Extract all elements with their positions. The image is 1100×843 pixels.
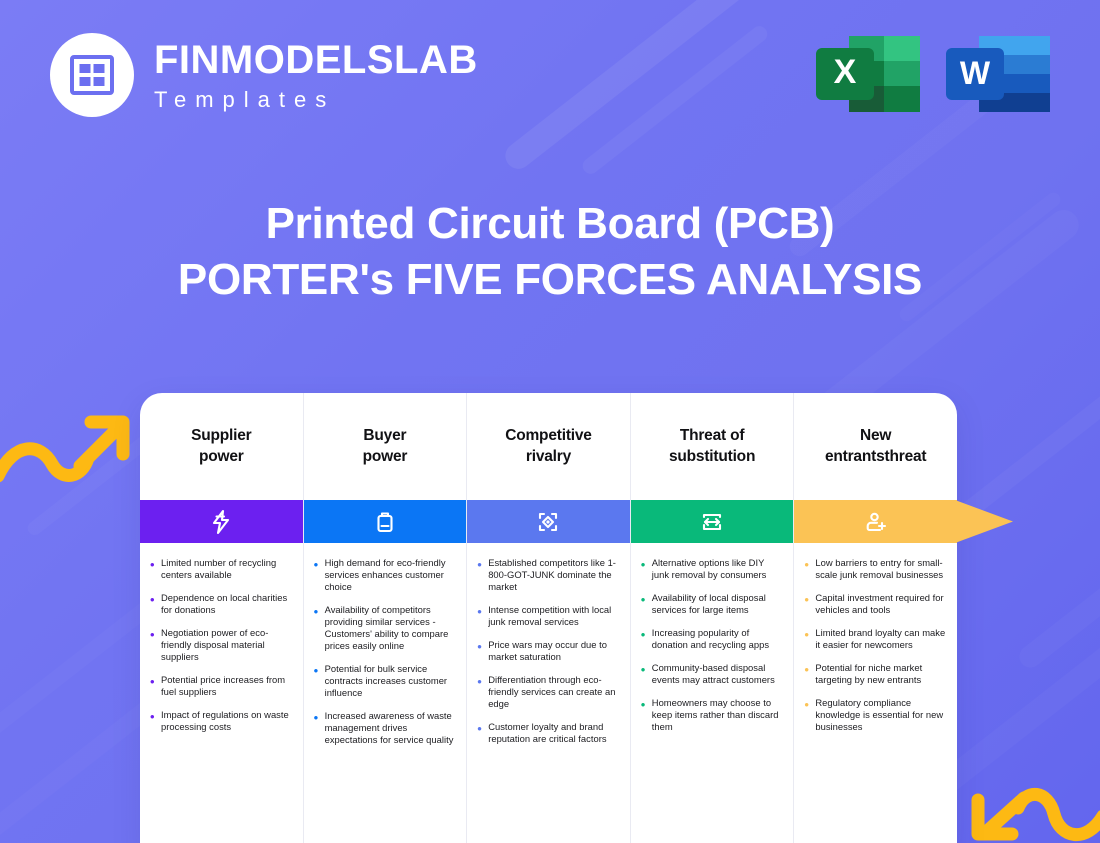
band-arrow-head-icon — [955, 500, 1015, 543]
user-plus-icon — [863, 509, 889, 535]
brand-subtitle: Templates — [154, 89, 478, 111]
bullet-item: •Homeowners may choose to keep items rat… — [641, 697, 783, 733]
column-header-label: New entrantsthreat — [825, 426, 926, 467]
column-band — [304, 500, 467, 543]
column-header-label: Threat of substitution — [669, 426, 755, 467]
force-column-buyer-power: Buyer power •High demand for eco-friendl… — [304, 393, 468, 843]
column-header: Buyer power — [304, 393, 467, 500]
bullet-item: •Potential for niche market targeting by… — [804, 662, 946, 686]
force-column-supplier-power: Supplier power •Limited number of recycl… — [140, 393, 304, 843]
bg-brush-stroke — [1015, 470, 1100, 672]
bullet-item: •Negotiation power of eco-friendly dispo… — [150, 627, 292, 663]
force-column-threat-of-substitution: Threat of substitution •Alternative opti… — [631, 393, 795, 843]
title-line-2: PORTER's FIVE FORCES ANALYSIS — [0, 252, 1100, 308]
svg-text:W: W — [960, 55, 991, 91]
target-focus-icon — [535, 509, 561, 535]
column-bullets: •Low barriers to entry for small-scale j… — [794, 543, 957, 843]
bullet-item: •Potential price increases from fuel sup… — [150, 674, 292, 698]
column-header: New entrantsthreat — [794, 393, 957, 500]
svg-text:X: X — [834, 53, 857, 91]
bullet-item: •Increased awareness of waste management… — [314, 710, 456, 746]
column-band — [631, 500, 794, 543]
squiggle-arrow-up-right-icon — [0, 408, 136, 488]
brand-logo[interactable]: FINMODELSLAB Templates — [50, 33, 478, 117]
column-header: Supplier power — [140, 393, 303, 500]
column-header-label: Supplier power — [191, 426, 251, 467]
bullet-item: •Potential for bulk service contracts in… — [314, 663, 456, 699]
bullet-item: •Limited brand loyalty can make it easie… — [804, 627, 946, 651]
bullet-item: •Customer loyalty and brand reputation a… — [477, 721, 619, 745]
exchange-arrows-icon — [699, 509, 725, 535]
bullet-item: •Dependence on local charities for donat… — [150, 592, 292, 616]
bg-brush-stroke — [579, 23, 770, 177]
bullet-item: •Capital investment required for vehicle… — [804, 592, 946, 616]
column-header: Threat of substitution — [631, 393, 794, 500]
grid-squares-icon — [70, 55, 114, 95]
excel-icon[interactable]: X — [816, 28, 920, 120]
bullet-item: •Impact of regulations on waste processi… — [150, 709, 292, 733]
column-band — [794, 500, 957, 543]
bullet-item: •Alternative options like DIY junk remov… — [641, 557, 783, 581]
bg-brush-stroke — [0, 594, 162, 742]
bullet-item: •Regulatory compliance knowledge is esse… — [804, 697, 946, 733]
column-bullets: •Alternative options like DIY junk remov… — [631, 543, 794, 843]
bullet-item: •Low barriers to entry for small-scale j… — [804, 557, 946, 581]
five-forces-table: Supplier power •Limited number of recycl… — [140, 393, 957, 843]
bullet-item: •Differentiation through eco-friendly se… — [477, 674, 619, 710]
lightning-bolt-icon — [208, 509, 234, 535]
squiggle-arrow-down-left-icon — [960, 752, 1100, 843]
bullet-item: •Intense competition with local junk rem… — [477, 604, 619, 628]
column-header-label: Buyer power — [363, 426, 408, 467]
column-bullets: •Established competitors like 1-800-GOT-… — [467, 543, 630, 843]
column-header-label: Competitive rivalry — [505, 426, 592, 467]
force-column-competitive-rivalry: Competitive rivalry •Established competi… — [467, 393, 631, 843]
brand-name: FINMODELSLAB — [154, 40, 478, 80]
logo-badge — [50, 33, 134, 117]
column-bullets: •Limited number of recycling centers ava… — [140, 543, 303, 843]
column-bullets: •High demand for eco-friendly services e… — [304, 543, 467, 843]
bullet-item: •Increasing popularity of donation and r… — [641, 627, 783, 651]
five-forces-card: Supplier power •Limited number of recycl… — [140, 393, 957, 843]
bg-brush-stroke — [500, 0, 800, 174]
page-title: Printed Circuit Board (PCB) PORTER's FIV… — [0, 196, 1100, 309]
briefcase-minus-icon — [372, 509, 398, 535]
bullet-item: •High demand for eco-friendly services e… — [314, 557, 456, 593]
bullet-item: •Limited number of recycling centers ava… — [150, 557, 292, 581]
title-line-1: Printed Circuit Board (PCB) — [0, 196, 1100, 252]
bullet-item: •Community-based disposal events may att… — [641, 662, 783, 686]
column-band — [467, 500, 630, 543]
bullet-item: •Availability of competitors providing s… — [314, 604, 456, 652]
word-icon[interactable]: W — [946, 28, 1050, 120]
bullet-item: •Established competitors like 1-800-GOT-… — [477, 557, 619, 593]
brand-text-block: FINMODELSLAB Templates — [154, 40, 478, 111]
office-format-badges: X W — [816, 28, 1050, 120]
poster-canvas: FINMODELSLAB Templates X — [0, 0, 1100, 843]
bullet-item: •Availability of local disposal services… — [641, 592, 783, 616]
column-band — [140, 500, 303, 543]
column-header: Competitive rivalry — [467, 393, 630, 500]
force-column-new-entrants-threat: New entrantsthreat •Low barriers to entr… — [794, 393, 957, 843]
bullet-item: •Price wars may occur due to market satu… — [477, 639, 619, 663]
